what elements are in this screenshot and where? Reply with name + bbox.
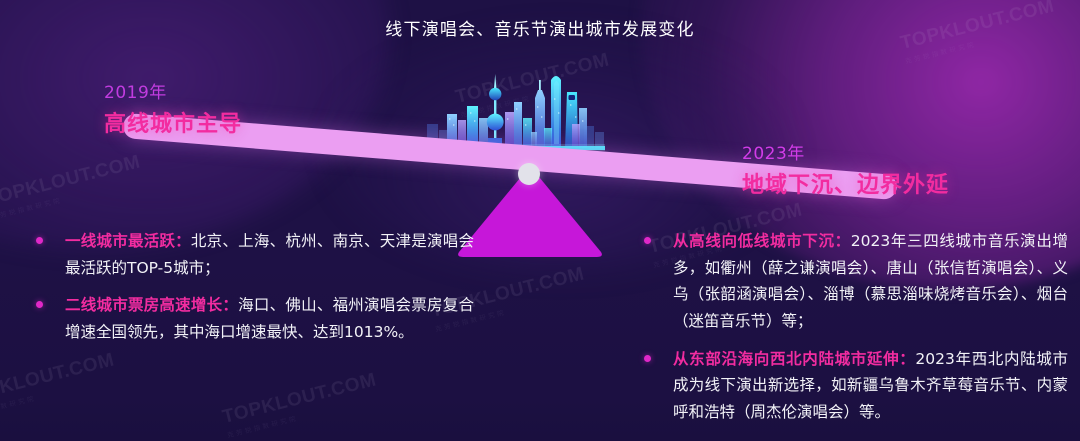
seesaw-pivot-dot: [518, 163, 540, 185]
list-item-lead: 从高线向低线城市下沉：: [673, 232, 851, 250]
watermark-subtext: 克劳锐指数研究院: [0, 372, 119, 420]
list-item-lead: 从东部沿海向西北内陆城市延伸：: [673, 350, 915, 368]
watermark: TOPKLOUT.COM 克劳锐指数研究院: [0, 151, 145, 221]
watermark-text: TOPKLOUT.COM: [0, 151, 142, 210]
left-label-year: 2019年: [104, 78, 242, 103]
list-item: 从高线向低线城市下沉：2023年三四线城市音乐演出增多，如衢州（薛之谦演唱会）、…: [630, 228, 1068, 335]
list-item-text: 从高线向低线城市下沉：2023年三四线城市音乐演出增多，如衢州（薛之谦演唱会）、…: [673, 228, 1068, 335]
list-item-text: 从东部沿海向西北内陆城市延伸：2023年西北内陆城市成为线下演出新选择，如新疆乌…: [673, 346, 1068, 426]
list-item: 一线城市最活跃：北京、上海、杭州、南京、天津是演唱会最活跃的TOP-5城市；: [22, 228, 474, 281]
infographic-canvas: TOPKLOUT.COM 克劳锐指数研究院 TOPKLOUT.COM 克劳锐指数…: [0, 0, 1080, 441]
page-title: 线下演唱会、音乐节演出城市发展变化: [0, 15, 1080, 40]
right-label-year: 2023年: [742, 139, 949, 164]
bullet-dot-icon: [644, 237, 651, 244]
list-item: 从东部沿海向西北内陆城市延伸：2023年西北内陆城市成为线下演出新选择，如新疆乌…: [630, 346, 1068, 426]
bullet-dot-icon: [644, 355, 651, 362]
left-label-headline: 高线城市主导: [104, 106, 242, 138]
bullet-dot-icon: [36, 301, 43, 308]
watermark-subtext: 克劳锐指数研究院: [0, 174, 145, 222]
right-label-headline: 地域下沉、边界外延: [742, 167, 949, 199]
left-bullet-column: 一线城市最活跃：北京、上海、杭州、南京、天津是演唱会最活跃的TOP-5城市； 二…: [22, 228, 474, 357]
watermark-subtext: 克劳锐指数研究院: [226, 392, 381, 440]
watermark-text: TOPKLOUT.COM: [0, 349, 116, 408]
list-item-text: 二线城市票房高速增长：海口、佛山、福州演唱会票房复合增速全国领先，其中海口增速最…: [65, 292, 474, 345]
list-item-lead: 二线城市票房高速增长：: [65, 296, 238, 314]
seesaw-right-label: 2023年 地域下沉、边界外延: [742, 139, 949, 199]
watermark: TOPKLOUT.COM 克劳锐指数研究院: [220, 369, 381, 439]
list-item-lead: 一线城市最活跃：: [65, 232, 191, 250]
watermark: TOPKLOUT.COM 克劳锐指数研究院: [0, 349, 119, 419]
right-bullet-column: 从高线向低线城市下沉：2023年三四线城市音乐演出增多，如衢州（薛之谦演唱会）、…: [630, 228, 1068, 437]
watermark-text: TOPKLOUT.COM: [220, 369, 378, 428]
list-item-text: 一线城市最活跃：北京、上海、杭州、南京、天津是演唱会最活跃的TOP-5城市；: [65, 228, 474, 281]
seesaw-left-label: 2019年 高线城市主导: [104, 78, 242, 138]
list-item: 二线城市票房高速增长：海口、佛山、福州演唱会票房复合增速全国领先，其中海口增速最…: [22, 292, 474, 345]
bullet-dot-icon: [36, 237, 43, 244]
